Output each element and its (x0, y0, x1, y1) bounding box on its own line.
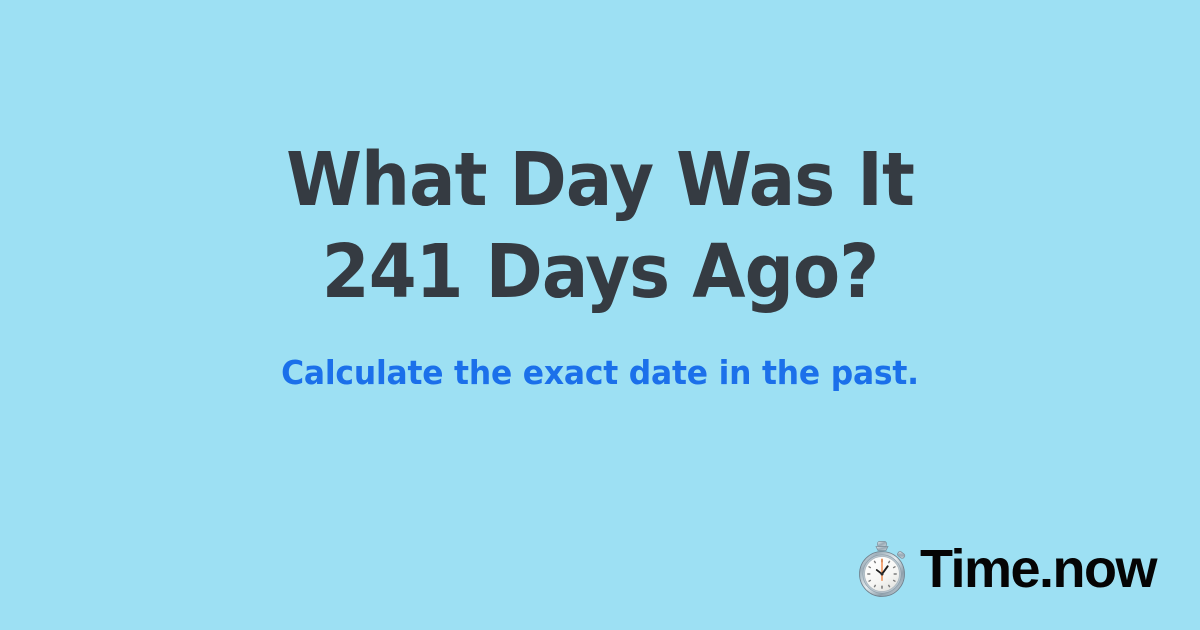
brand-lockup: Time.now (856, 540, 1156, 598)
headline-line-1: What Day Was It (42, 134, 1158, 226)
share-card: What Day Was It 241 Days Ago? Calculate … (0, 0, 1200, 630)
stopwatch-icon (856, 540, 908, 598)
headline-line-2: 241 Days Ago? (42, 226, 1158, 318)
brand-name: Time.now (920, 540, 1156, 598)
page-title: What Day Was It 241 Days Ago? (0, 134, 1200, 318)
subtitle: Calculate the exact date in the past. (30, 352, 1170, 394)
